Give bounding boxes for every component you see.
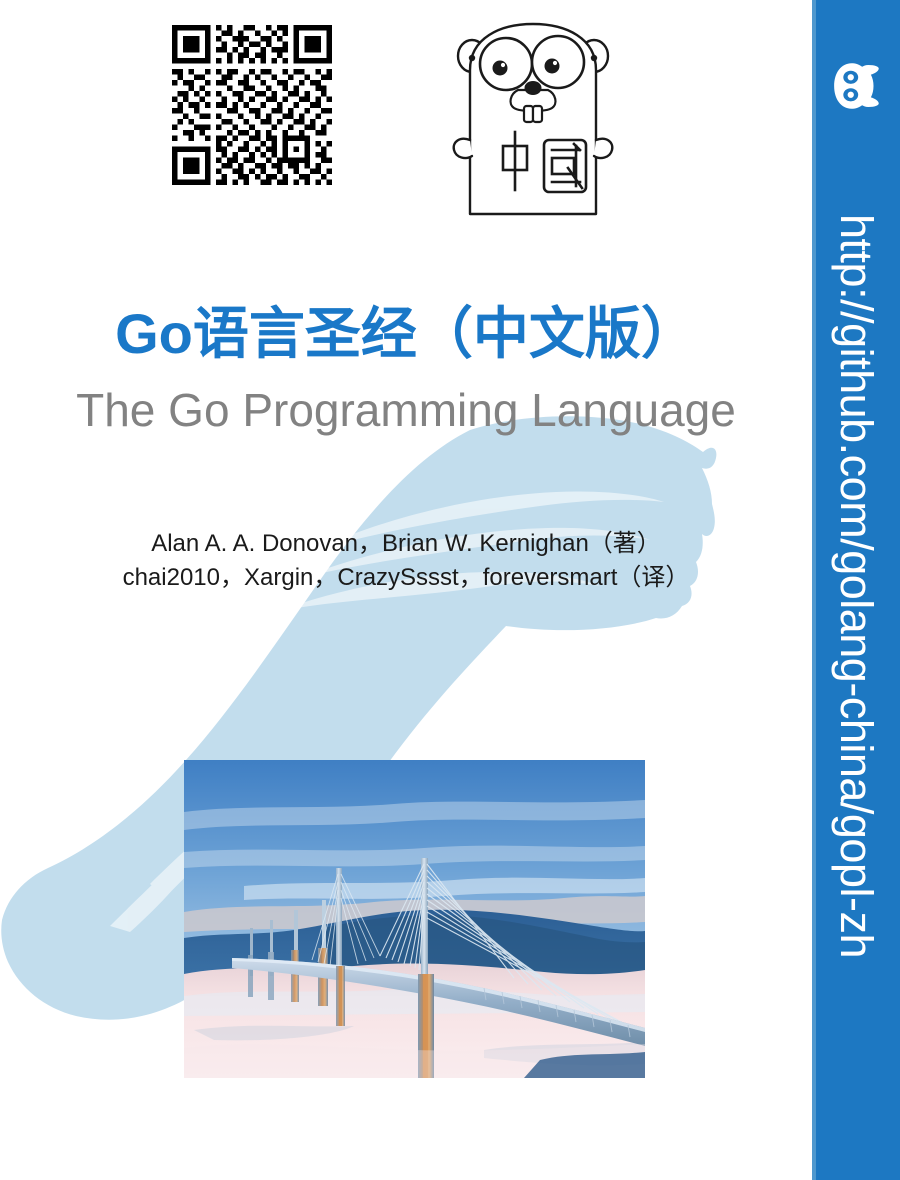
qr-code[interactable] <box>172 25 332 185</box>
bridge-photo-image <box>184 760 645 1078</box>
authors-line-translators: chai2010，Xargin，CrazySssst，foreversmart（… <box>0 561 812 595</box>
authors-line-original: Alan A. A. Donovan，Brian W. Kernighan（著） <box>0 527 812 561</box>
github-url-text[interactable]: http://github.com/golang-china/gopl-zh <box>812 130 900 1130</box>
github-octocat-icon[interactable] <box>828 58 884 114</box>
github-url-label: http://github.com/golang-china/gopl-zh <box>830 214 882 958</box>
qr-code-image <box>172 25 332 185</box>
go-gopher-mascot <box>448 18 618 218</box>
book-cover: Go语言圣经（中文版） The Go Programming Language … <box>0 0 900 1180</box>
page-subtitle: The Go Programming Language <box>0 385 812 436</box>
page-title: Go语言圣经（中文版） <box>0 305 812 364</box>
millau-viaduct-bridge-photo <box>184 760 645 1078</box>
authors-block: Alan A. A. Donovan，Brian W. Kernighan（著）… <box>0 527 812 594</box>
gopher-belly-text <box>503 132 586 192</box>
